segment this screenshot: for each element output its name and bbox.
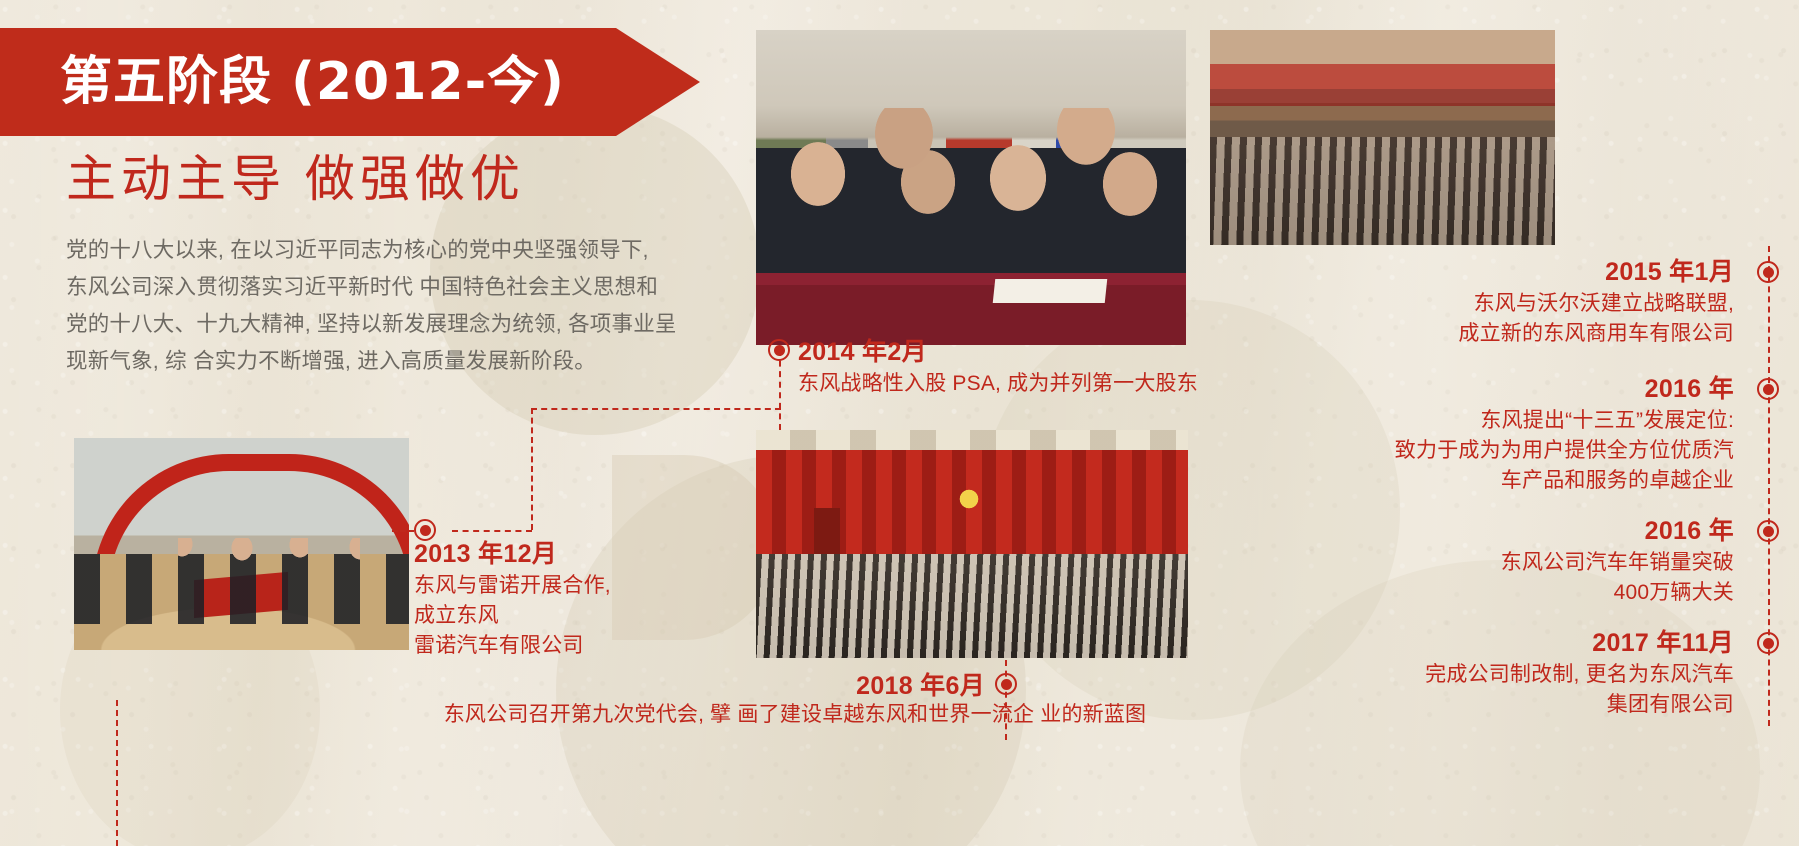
event-description: 东风公司召开第九次党代会, 擘 画了建设卓越东风和世界一流企 业的新蓝图 [320,700,1270,730]
paragraph-line: 党的十八大、十九大精神, 坚持以新发展理念为统领, 各项事业呈 [66,306,738,343]
event-date: 2016 年 [1395,373,1734,406]
event-description: 东风战略性入股 PSA, 成为并列第一大股东 [798,369,1198,399]
phase-banner: 第五阶段 (2012-今) [0,28,700,136]
timeline-event-2016-plan[interactable]: 2016 年 东风提出“十三五”发展定位: 致力于成为为用户提供全方位优质汽 车… [1395,373,1734,495]
photo-documents [993,279,1108,303]
photo-audience [756,554,1188,658]
page-headline: 主动主导 做强做优 [66,150,826,209]
photo-party-emblem [952,482,986,516]
event-date: 2015 年1月 [1458,256,1734,289]
photo-renault-groundbreaking [74,438,409,650]
event-date: 2018 年6月 [520,670,985,703]
timeline-event-2014-psa[interactable]: 2014 年2月 东风战略性入股 PSA, 成为并列第一大股东 [798,336,1198,399]
timeline-bullet-icon[interactable] [768,339,790,361]
event-date: 2013 年12月 [414,538,611,571]
photo-figures [756,108,1186,288]
timeline-elbow-stub [392,530,414,532]
timeline-event-2015-volvo[interactable]: 2015 年1月 东风与沃尔沃建立战略联盟, 成立新的东风商用车有限公司 [1458,256,1734,349]
infographic-page: 第五阶段 (2012-今) 主动主导 做强做优 党的十八大以来, 在以习近平同志… [0,0,1799,846]
photo-volvo-conference-hall [1210,30,1555,245]
phase-title: 第五阶段 (2012-今) [60,56,565,108]
event-date: 2016 年 [1501,515,1734,548]
timeline-rail-right [1768,246,1770,726]
timeline-elbow-drop [531,408,533,530]
paragraph-line: 东风公司深入贯彻落实习近平新时代 中国特色社会主义思想和 [66,269,738,306]
timeline-bullet-icon[interactable] [1757,520,1779,542]
photo-people [74,538,409,624]
timeline-event-2018-description: 东风公司召开第九次党代会, 擘 画了建设卓越东风和世界一流企 业的新蓝图 [320,700,1270,730]
photo-psa-signing-ceremony [756,30,1186,345]
timeline-bullet-icon[interactable] [1757,261,1779,283]
event-description: 东风提出“十三五”发展定位: 致力于成为为用户提供全方位优质汽 车产品和服务的卓… [1395,406,1734,495]
timeline-event-2013-renault[interactable]: 2013 年12月 东风与雷诺开展合作, 成立东风 雷诺汽车有限公司 [414,530,611,660]
event-description: 东风公司汽车年销量突破 400万辆大关 [1501,548,1734,608]
timeline-event-2018-congress[interactable]: 2018 年6月 [520,670,985,703]
timeline-rail-center [779,350,781,430]
photo-party-congress-hall [756,430,1188,658]
photo-podium [814,508,840,560]
intro-paragraph: 党的十八大以来, 在以习近平同志为核心的党中央坚强领导下, 东风公司深入贯彻落实… [66,232,738,380]
timeline-bullet-icon[interactable] [995,673,1017,695]
photo-audience [1210,137,1555,245]
event-date: 2014 年2月 [798,336,1198,369]
event-description: 东风与沃尔沃建立战略联盟, 成立新的东风商用车有限公司 [1458,289,1734,349]
event-date: 2017 年11月 [1425,627,1734,660]
timeline-event-2016-sales[interactable]: 2016 年 东风公司汽车年销量突破 400万辆大关 [1501,515,1734,608]
paragraph-line: 党的十八大以来, 在以习近平同志为核心的党中央坚强领导下, [66,232,738,269]
event-description: 东风与雷诺开展合作, 成立东风 雷诺汽车有限公司 [414,571,611,660]
timeline-bullet-icon[interactable] [1757,632,1779,654]
photo-stage [1210,64,1555,106]
timeline-bullet-icon[interactable] [1757,378,1779,400]
paragraph-line: 现新气象, 综 合实力不断增强, 进入高质量发展新阶段。 [66,343,738,380]
event-description: 完成公司制改制, 更名为东风汽车 集团有限公司 [1425,660,1734,720]
photo-ceiling-lights [756,430,1188,452]
photo-table [756,273,1186,345]
timeline-event-2017-restructure[interactable]: 2017 年11月 完成公司制改制, 更名为东风汽车 集团有限公司 [1425,627,1734,720]
timeline-elbow-top [531,408,781,410]
timeline-rail-bottom-left [116,700,118,846]
